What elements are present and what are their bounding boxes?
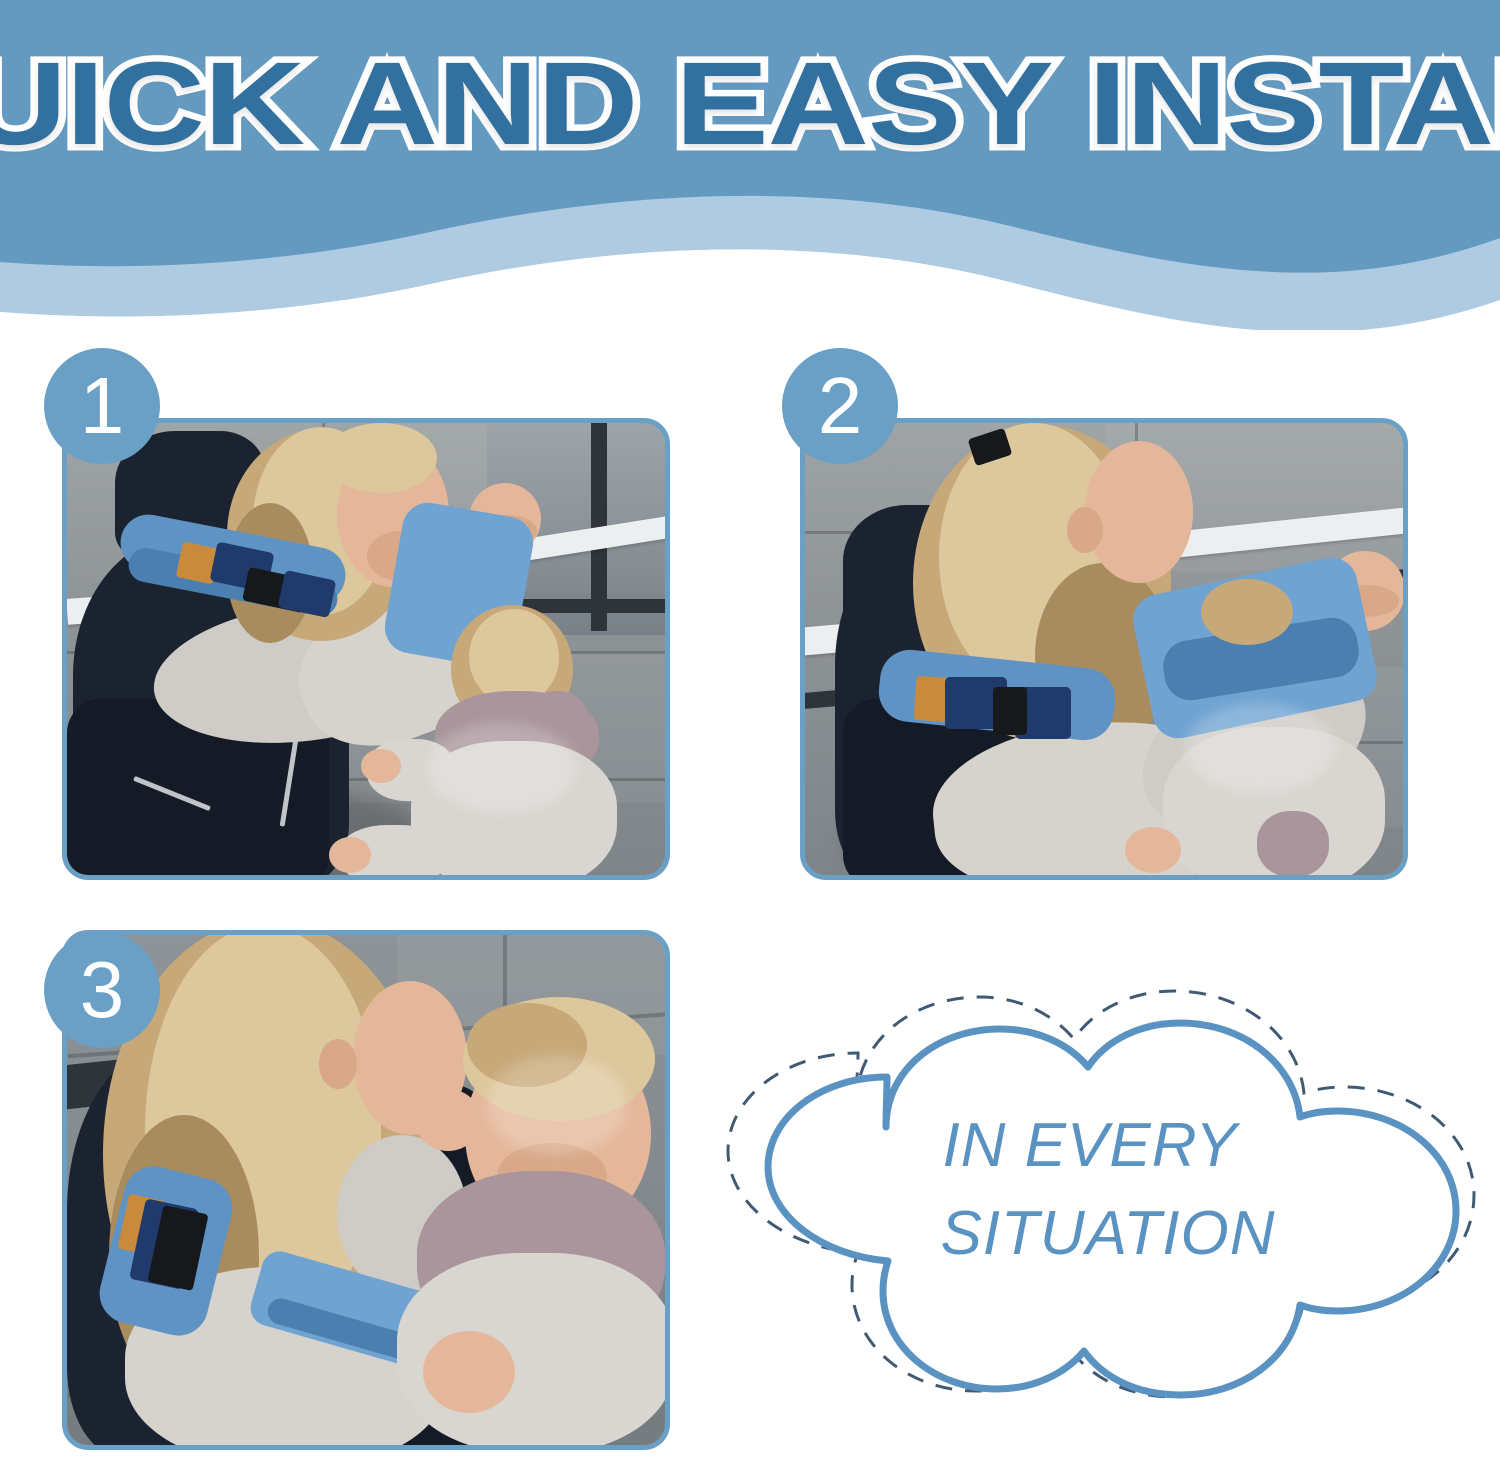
toddler-scarf — [1257, 811, 1329, 875]
photo-highlight — [427, 723, 577, 813]
step-2-badge: 2 — [782, 348, 898, 464]
step-1-photo-card — [62, 418, 670, 880]
mother-hair-front — [325, 423, 437, 493]
mother-ear — [319, 1039, 357, 1089]
toddler-hand — [423, 1331, 515, 1413]
header-banner: QUICK AND EASY INSTALLATION — [0, 0, 1500, 330]
step-2-photo-card — [800, 418, 1408, 880]
mother-ear — [1067, 507, 1103, 553]
toddler-foot — [329, 837, 371, 873]
cloud-callout: IN EVERY SITUATION — [680, 975, 1500, 1405]
page-title: QUICK AND EASY INSTALLATION — [0, 40, 1500, 168]
step-3-badge: 3 — [44, 932, 160, 1048]
photo-highlight — [1185, 703, 1335, 793]
step-2-photo — [805, 423, 1403, 875]
step-1-badge: 1 — [44, 348, 160, 464]
step-3-number: 3 — [80, 950, 125, 1030]
mother-face — [1085, 441, 1193, 583]
toddler-hand — [1125, 827, 1181, 873]
toddler-hand — [361, 749, 401, 783]
photo-highlight — [487, 1055, 627, 1155]
step-2-number: 2 — [818, 366, 863, 446]
step-3-photo — [67, 935, 665, 1445]
toddler-hair — [1201, 579, 1293, 645]
cloud-shape-icon — [680, 975, 1500, 1405]
carrier-buckle — [993, 687, 1027, 735]
step-1-number: 1 — [80, 366, 125, 446]
step-1-photo — [67, 423, 665, 875]
